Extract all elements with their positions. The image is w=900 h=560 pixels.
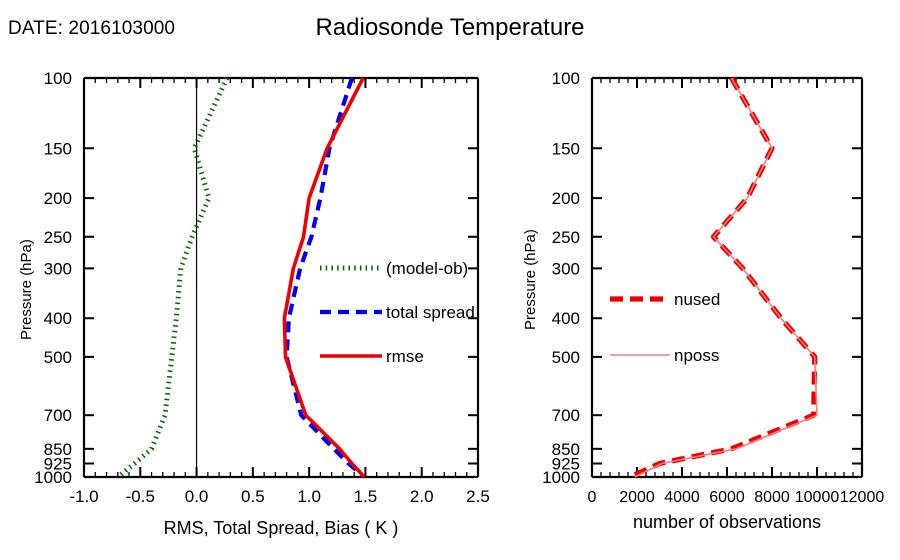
y-tick-label: 150	[552, 139, 580, 158]
right-plot-svg: 0200040006000800010000120001001502002503…	[500, 0, 900, 500]
left-plot-svg: -1.0-0.50.00.51.01.52.02.510015020025030…	[0, 0, 500, 500]
x-tick-label: 2000	[619, 489, 655, 506]
x-tick-label: 6000	[709, 489, 745, 506]
right-x-axis-title: number of observations	[592, 512, 862, 533]
y-tick-label: 1000	[34, 468, 72, 487]
right-panel: Pressure (hPa) 0200040006000800010000120…	[500, 0, 900, 560]
chart-page: DATE: 2016103000 Radiosonde Temperature …	[0, 0, 900, 560]
y-tick-label: 200	[44, 189, 72, 208]
x-tick-label: 0.0	[185, 487, 209, 506]
x-tick-label: 12000	[840, 489, 885, 506]
y-tick-label: 700	[552, 406, 580, 425]
y-tick-label: 250	[552, 228, 580, 247]
series-line--model-ob-	[118, 78, 227, 477]
x-tick-label: -1.0	[69, 487, 98, 506]
y-tick-label: 500	[44, 348, 72, 367]
y-tick-label: 1000	[542, 468, 580, 487]
legend-label: nposs	[674, 346, 719, 365]
y-tick-label: 150	[44, 139, 72, 158]
x-tick-label: 1.5	[354, 487, 378, 506]
x-tick-label: 0	[588, 489, 597, 506]
series-line-total-spread	[287, 78, 365, 477]
legend-label: nused	[674, 290, 720, 309]
x-tick-label: 10000	[795, 489, 840, 506]
legend-label: total spread	[386, 303, 475, 322]
left-panel: Pressure (hPa) -1.0-0.50.00.51.01.52.02.…	[0, 0, 500, 560]
y-tick-label: 300	[552, 259, 580, 278]
y-tick-label: 100	[552, 69, 580, 88]
legend-label: rmse	[386, 347, 424, 366]
y-tick-label: 250	[44, 228, 72, 247]
x-tick-label: 2.0	[410, 487, 434, 506]
left-x-axis-title: RMS, Total Spread, Bias ( K )	[84, 518, 478, 539]
series-line-nused	[630, 78, 815, 477]
y-tick-label: 500	[552, 348, 580, 367]
x-tick-label: 1.0	[297, 487, 321, 506]
y-tick-label: 700	[44, 406, 72, 425]
x-tick-label: 0.5	[241, 487, 265, 506]
series-line-nposs	[635, 78, 817, 477]
y-tick-label: 200	[552, 189, 580, 208]
y-tick-label: 300	[44, 259, 72, 278]
y-tick-label: 100	[44, 69, 72, 88]
x-tick-label: 2.5	[466, 487, 490, 506]
x-tick-label: 8000	[754, 489, 790, 506]
x-tick-label: 4000	[664, 489, 700, 506]
legend: nusednposs	[610, 290, 720, 365]
legend: (model-ob)total spreadrmse	[320, 259, 475, 366]
y-tick-label: 400	[552, 309, 580, 328]
x-tick-label: -0.5	[126, 487, 155, 506]
legend-label: (model-ob)	[386, 259, 468, 278]
y-tick-label: 400	[44, 309, 72, 328]
